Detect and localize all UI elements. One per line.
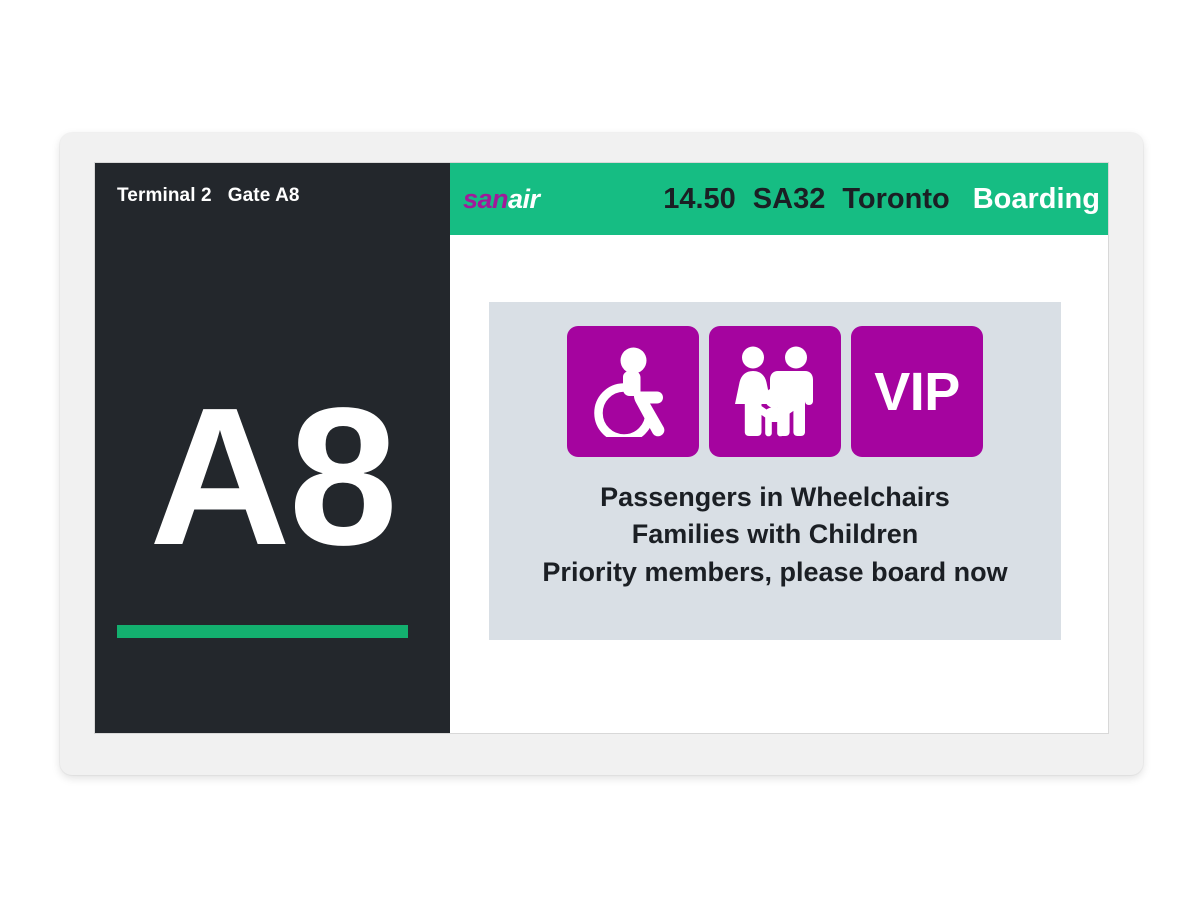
priority-boarding-card: VIP Passengers in Wheelchairs Families w… <box>489 302 1061 640</box>
vip-icon: VIP <box>874 365 960 419</box>
gate-number: A8 <box>95 395 450 560</box>
priority-icon-row: VIP <box>567 326 983 457</box>
flight-time: 14.50 <box>663 183 736 216</box>
priority-tile-wheelchair <box>567 326 699 457</box>
family-icon <box>725 346 825 438</box>
priority-tile-family <box>709 326 841 457</box>
terminal-gate-label: Terminal 2 Gate A8 <box>117 185 300 207</box>
gate-status-bar <box>117 625 408 638</box>
flight-number: SA32 <box>753 183 826 216</box>
content-panel: sanair 14.50 SA32 Toronto Boarding <box>450 163 1108 733</box>
airline-logo-part-one: san <box>463 184 508 214</box>
priority-message: Passengers in Wheelchairs Families with … <box>542 479 1007 591</box>
priority-message-line-1: Passengers in Wheelchairs <box>542 479 1007 516</box>
flight-destination: Toronto <box>842 183 949 216</box>
priority-message-line-3: Priority members, please board now <box>542 554 1007 591</box>
wheelchair-icon <box>590 347 676 437</box>
gate-panel: Terminal 2 Gate A8 A8 <box>95 163 450 733</box>
priority-tile-vip: VIP <box>851 326 983 457</box>
gate-display-screen: Terminal 2 Gate A8 A8 sanair 14.50 SA32 … <box>95 163 1108 733</box>
flight-info: 14.50 SA32 Toronto Boarding <box>540 183 1108 216</box>
airline-logo: sanair <box>463 184 540 215</box>
airline-logo-part-two: air <box>508 184 540 214</box>
flight-header: sanair 14.50 SA32 Toronto Boarding <box>450 163 1108 235</box>
priority-message-line-2: Families with Children <box>542 516 1007 553</box>
flight-status-badge: Boarding <box>967 183 1100 216</box>
